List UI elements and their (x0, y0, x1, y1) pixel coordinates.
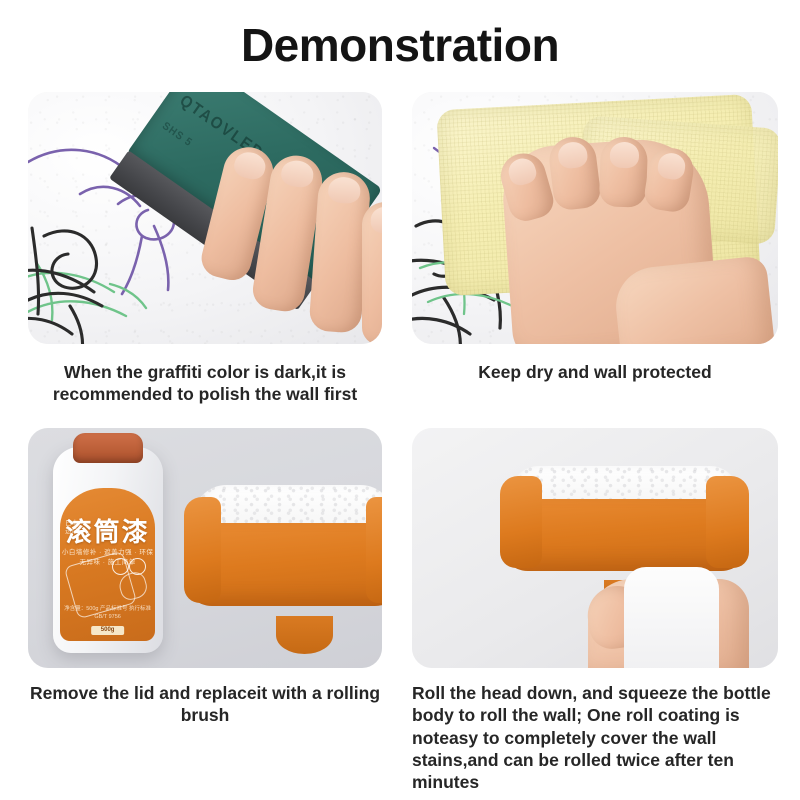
step-4: Roll the head down, and squeeze the bott… (400, 428, 800, 794)
step-4-caption: Roll the head down, and squeeze the bott… (412, 682, 778, 794)
fingernail (656, 151, 688, 181)
step-1-caption: When the graffiti color is dark,it is re… (28, 361, 382, 406)
bottle-label: 日本进口 滚筒漆 小白墙修补 · 遮盖力强 · 环保无异味 · 施工简单 净含量… (60, 488, 154, 641)
steps-row-top: QTAOVLED SHS 5 (0, 92, 800, 406)
step-2: Keep dry and wall protected (400, 92, 800, 406)
photo-rolling-paint-on-wall (412, 428, 778, 668)
page-title: Demonstration (0, 0, 800, 76)
finger-ring (599, 136, 649, 207)
finger-pinky (362, 202, 382, 344)
finger-middle (547, 134, 603, 211)
roller-arm-left (500, 476, 542, 568)
hand-fingers-on-cloth (500, 127, 705, 243)
fingernail (327, 176, 361, 204)
label-weight-chip: 500g (91, 626, 125, 635)
label-brand-name: 滚筒漆 (60, 519, 154, 545)
roller-arm-right (706, 476, 748, 568)
roller-arm-right (366, 497, 382, 604)
photo-bottle-and-roller-head: 日本进口 滚筒漆 小白墙修补 · 遮盖力强 · 环保无异味 · 施工简单 净含量… (28, 428, 382, 668)
roller-arm-left (184, 497, 221, 604)
fingernail (280, 158, 316, 189)
bottle-cap (73, 433, 143, 464)
photo-wiping-wall-with-yellow-cloth (412, 92, 778, 344)
label-footer-text: 净含量：500g 产品标准号 执行标准 GB/T 9756 (60, 605, 154, 622)
photo-sanding-block-on-graffiti-wall: QTAOVLED SHS 5 (28, 92, 382, 344)
paint-bottle: 日本进口 滚筒漆 小白墙修补 · 遮盖力强 · 环保无异味 · 施工简单 净含量… (53, 447, 163, 653)
fingernail (556, 140, 588, 169)
demonstration-steps-grid: QTAOVLED SHS 5 (0, 92, 800, 794)
fingernail (505, 155, 539, 188)
finger-index (496, 148, 558, 225)
step-3-caption: Remove the lid and replaceit with a roll… (28, 682, 382, 727)
step-1: QTAOVLED SHS 5 (0, 92, 400, 406)
step-3: 日本进口 滚筒漆 小白墙修补 · 遮盖力强 · 环保无异味 · 施工简单 净含量… (0, 428, 400, 794)
hand-holding-block (205, 137, 382, 344)
fingernail (231, 149, 267, 182)
finger-pinky (643, 145, 697, 214)
roller-brush-head (184, 485, 382, 629)
step-2-caption: Keep dry and wall protected (412, 361, 778, 383)
steps-row-bottom: 日本进口 滚筒漆 小白墙修补 · 遮盖力强 · 环保无异味 · 施工简单 净含量… (0, 428, 800, 794)
roller-neck-connector (276, 616, 333, 653)
label-badge-icon (129, 558, 146, 575)
fingernail (370, 207, 382, 233)
bottle-body-white (624, 567, 719, 668)
fingernail (609, 141, 639, 168)
